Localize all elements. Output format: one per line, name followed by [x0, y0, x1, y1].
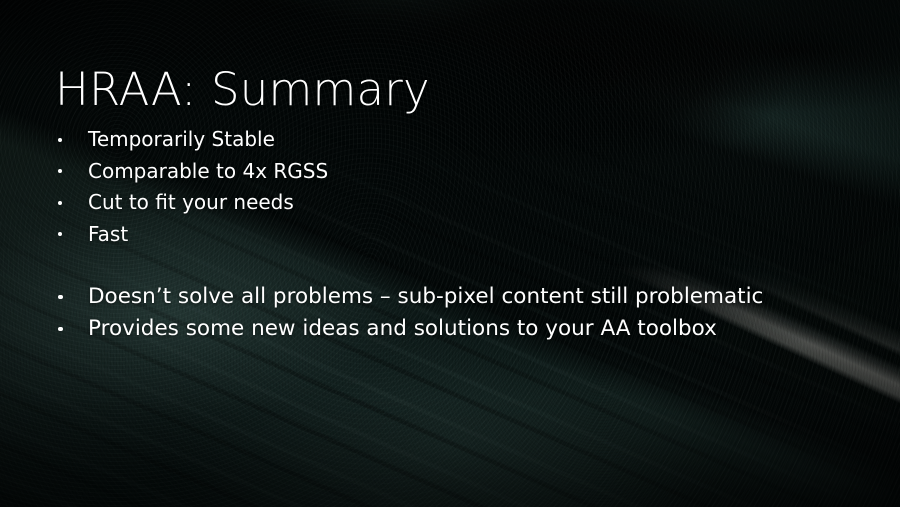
list-item: Fast: [55, 219, 328, 251]
list-item-label: Temporarily Stable: [88, 127, 275, 151]
bullet-list-advantages: Temporarily Stable Comparable to 4x RGSS…: [55, 124, 328, 250]
presentation-slide: HRAA: Summary Temporarily Stable Compara…: [0, 0, 900, 507]
slide-content: HRAA: Summary Temporarily Stable Compara…: [0, 0, 900, 507]
bullet-dot-icon: [58, 138, 62, 142]
list-item: Temporarily Stable: [55, 124, 328, 156]
list-item-label: Provides some new ideas and solutions to…: [88, 316, 717, 341]
bullet-list-closing-remarks: Doesn’t solve all problems – sub-pixel c…: [55, 281, 763, 345]
bullet-dot-icon: [58, 327, 63, 332]
bullet-dot-icon: [58, 201, 62, 205]
list-item-label: Comparable to 4x RGSS: [88, 159, 328, 183]
list-item: Provides some new ideas and solutions to…: [55, 313, 763, 345]
list-item: Doesn’t solve all problems – sub-pixel c…: [55, 281, 763, 313]
page-title: HRAA: Summary: [55, 63, 430, 116]
bullet-dot-icon: [58, 169, 62, 173]
list-item-label: Doesn’t solve all problems – sub-pixel c…: [88, 284, 763, 309]
list-item: Cut to fit your needs: [55, 187, 328, 219]
list-item: Comparable to 4x RGSS: [55, 156, 328, 188]
bullet-dot-icon: [58, 232, 62, 236]
bullet-dot-icon: [58, 295, 63, 300]
list-item-label: Cut to fit your needs: [88, 190, 294, 214]
list-item-label: Fast: [88, 222, 128, 246]
